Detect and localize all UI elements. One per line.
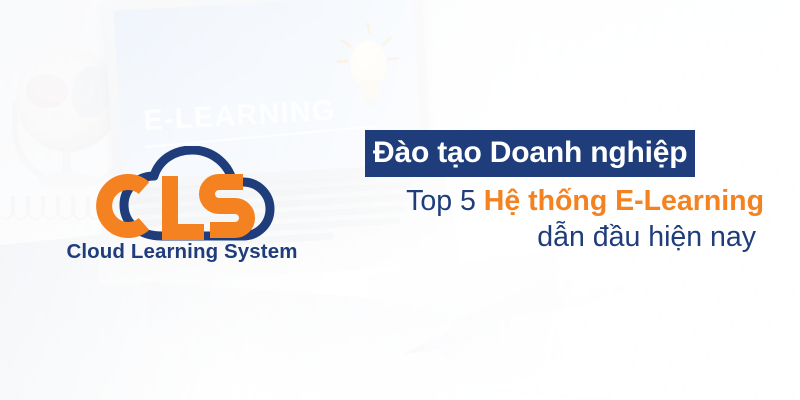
headline-highlight: Hệ thống E-Learning: [484, 185, 764, 217]
headline-line-3: dẫn đầu hiện nay: [300, 222, 770, 254]
headline-block: Đào tạo Doanh nghiệp Top 5 Hệ thống E-Le…: [300, 130, 770, 254]
promo-banner: E-LEARNING: [0, 0, 800, 400]
logo-tagline: Cloud Learning System: [52, 240, 312, 264]
headline-band: Đào tạo Doanh nghiệp: [365, 130, 695, 177]
headline-line-2: Top 5 Hệ thống E-Learning: [300, 186, 770, 218]
cls-logo[interactable]: Cloud Learning System: [52, 146, 312, 276]
headline-top5: Top 5: [406, 185, 484, 217]
cloud-icon: [92, 146, 292, 244]
